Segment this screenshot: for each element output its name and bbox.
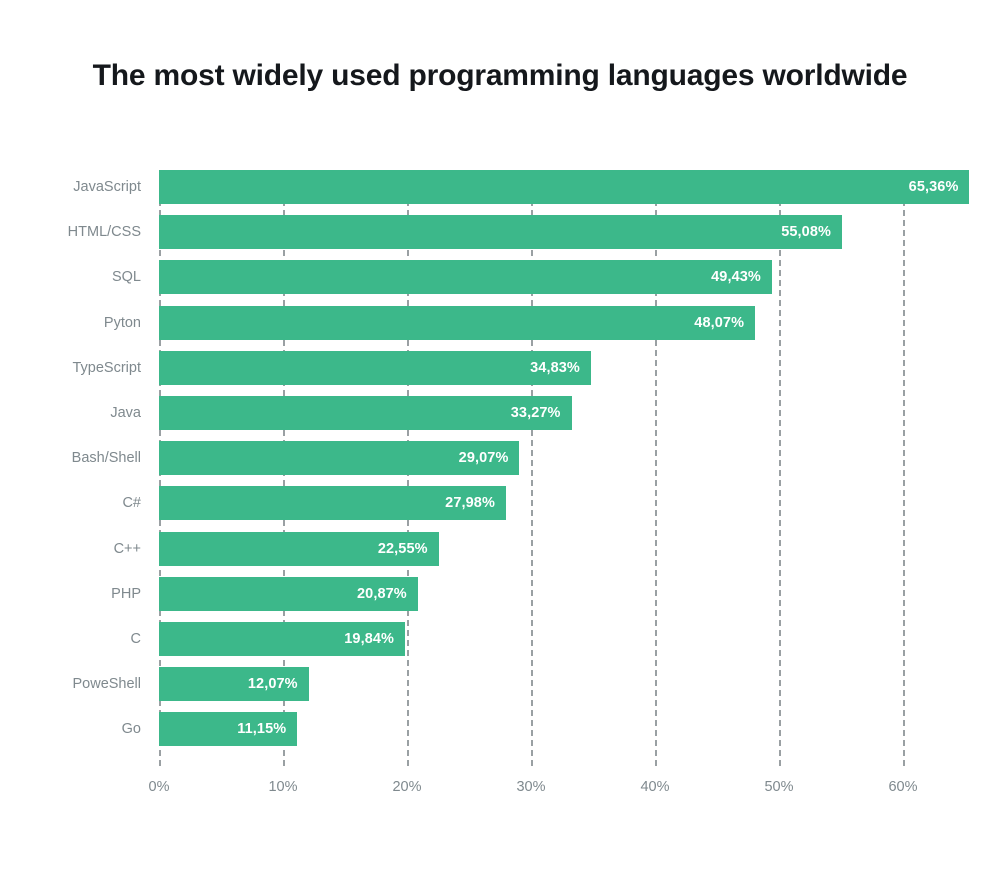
category-label-javascript: JavaScript [73, 170, 141, 204]
bar-row: SQL49,43% [159, 260, 903, 294]
bar[interactable]: 55,08% [159, 215, 842, 249]
category-label-bash-shell: Bash/Shell [72, 441, 141, 475]
bar-value-label: 20,87% [357, 586, 407, 602]
x-tick-label: 30% [516, 779, 545, 795]
bar-value-label: 27,98% [445, 495, 495, 511]
plot-area: JavaScript65,36%HTML/CSS55,08%SQL49,43%P… [159, 170, 903, 770]
bar-series: JavaScript65,36%HTML/CSS55,08%SQL49,43%P… [159, 170, 903, 770]
bar-value-label: 48,07% [694, 315, 744, 331]
category-label-typescript: TypeScript [73, 351, 142, 385]
bar-row: Java33,27% [159, 396, 903, 430]
bar-row: HTML/CSS55,08% [159, 215, 903, 249]
category-label-php: PHP [111, 577, 141, 611]
bar[interactable]: 20,87% [159, 577, 418, 611]
bar[interactable]: 65,36% [159, 170, 969, 204]
category-label-poweshell: PoweShell [72, 667, 141, 701]
bar-row: JavaScript65,36% [159, 170, 903, 204]
bar[interactable]: 34,83% [159, 351, 591, 385]
bar-row: Go11,15% [159, 712, 903, 746]
bar[interactable]: 11,15% [159, 712, 297, 746]
bar-value-label: 19,84% [344, 631, 394, 647]
bar-row: Bash/Shell29,07% [159, 441, 903, 475]
category-label-html-css: HTML/CSS [68, 215, 141, 249]
bar-row: PoweShell12,07% [159, 667, 903, 701]
category-label-c: C [131, 622, 141, 656]
bar[interactable]: 33,27% [159, 396, 572, 430]
category-label-sql: SQL [112, 260, 141, 294]
category-label-c: C++ [114, 532, 141, 566]
x-axis-ticks: 0%10%20%30%40%50%60% [159, 779, 903, 809]
bar-value-label: 55,08% [781, 224, 831, 240]
bar-value-label: 29,07% [459, 450, 509, 466]
bar-row: Pyton48,07% [159, 306, 903, 340]
bar-value-label: 65,36% [909, 179, 959, 195]
chart-page: The most widely used programming languag… [0, 0, 1000, 876]
bar-row: C++22,55% [159, 532, 903, 566]
bar[interactable]: 48,07% [159, 306, 755, 340]
bar-value-label: 34,83% [530, 360, 580, 376]
bar[interactable]: 22,55% [159, 532, 439, 566]
bar[interactable]: 12,07% [159, 667, 309, 701]
bar-row: C#27,98% [159, 486, 903, 520]
x-tick-label: 20% [392, 779, 421, 795]
bar-value-label: 12,07% [248, 676, 298, 692]
bar[interactable]: 27,98% [159, 486, 506, 520]
bar-row: TypeScript34,83% [159, 351, 903, 385]
bar-value-label: 49,43% [711, 269, 761, 285]
category-label-go: Go [122, 712, 141, 746]
x-tick-label: 10% [268, 779, 297, 795]
category-label-java: Java [110, 396, 141, 430]
category-label-pyton: Pyton [104, 306, 141, 340]
x-tick-label: 50% [764, 779, 793, 795]
gridline-60pct [903, 170, 905, 766]
bar-value-label: 22,55% [378, 541, 428, 557]
x-tick-label: 40% [640, 779, 669, 795]
page-title: The most widely used programming languag… [60, 56, 940, 96]
bar[interactable]: 19,84% [159, 622, 405, 656]
bar-value-label: 11,15% [237, 721, 286, 737]
x-tick-label: 60% [888, 779, 917, 795]
bar-row: C19,84% [159, 622, 903, 656]
bar-row: PHP20,87% [159, 577, 903, 611]
x-tick-label: 0% [149, 779, 170, 795]
bar-value-label: 33,27% [511, 405, 561, 421]
category-label-c: C# [122, 486, 141, 520]
bar[interactable]: 29,07% [159, 441, 519, 475]
bar[interactable]: 49,43% [159, 260, 772, 294]
